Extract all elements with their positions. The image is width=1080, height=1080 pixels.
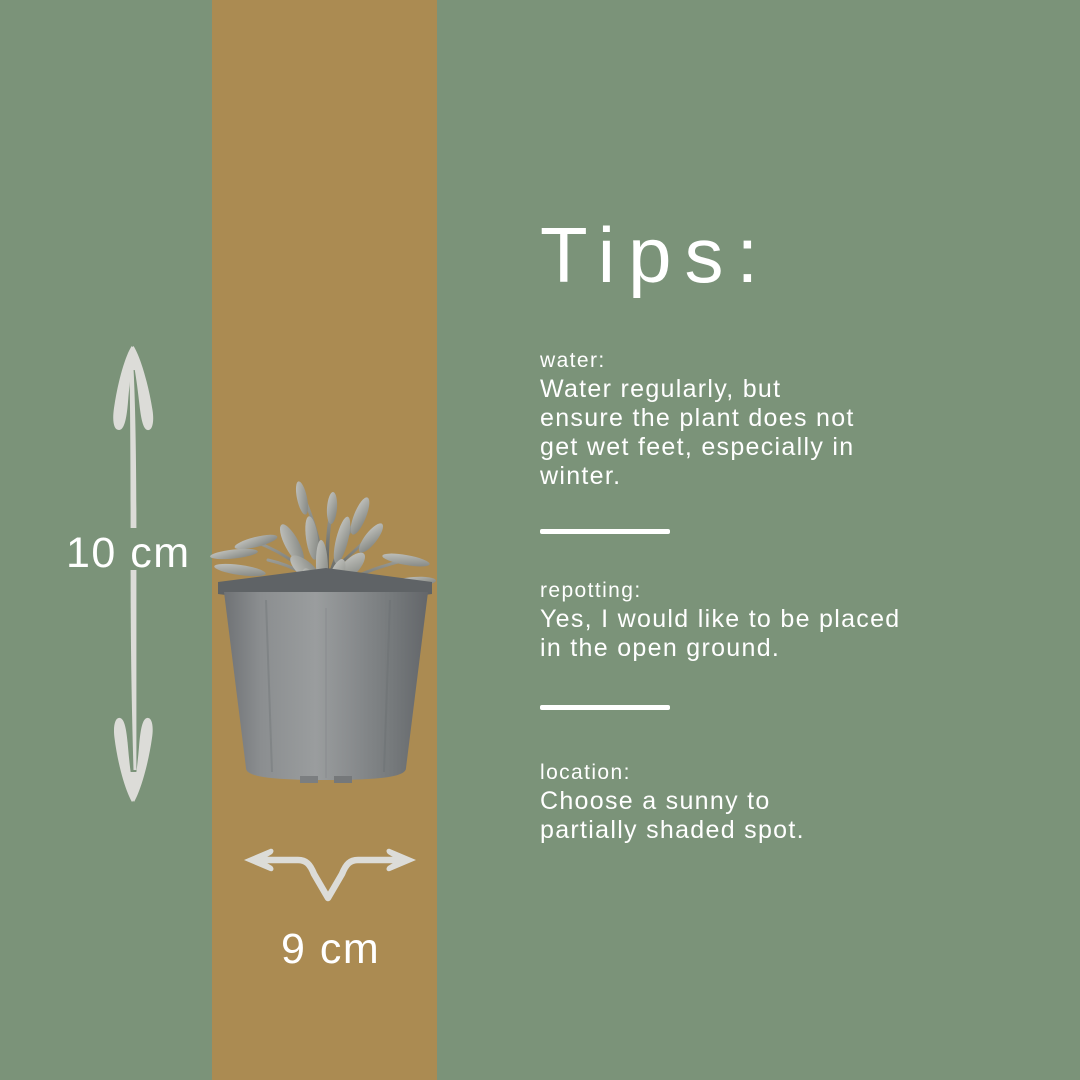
width-dimension-label: 9 cm [281, 922, 380, 976]
spacer-after-repotting [540, 663, 1020, 705]
potted-plant-photo [200, 420, 450, 790]
tip-body-repotting: Yes, I would like to be placed in the op… [540, 605, 1020, 663]
tip-label-repotting: repotting: [540, 576, 1020, 605]
height-dimension-label: 10 cm [66, 526, 191, 580]
spacer-before-location [540, 710, 1020, 758]
spacer-after-water [540, 491, 1020, 529]
double-arrow-horizontal-icon [240, 840, 420, 908]
tips-heading: Tips: [540, 212, 1020, 298]
tips-panel: Tips: water: Water regularly, but ensure… [540, 212, 1020, 845]
infographic-canvas: 10 cm 9 cm Tips: water: Water regularly,… [0, 0, 1080, 1080]
tip-block-repotting: repotting: Yes, I would like to be place… [540, 576, 1020, 663]
tip-label-location: location: [540, 758, 1020, 787]
tip-block-water: water: Water regularly, but ensure the p… [540, 346, 1020, 491]
spacer-before-repotting [540, 534, 1020, 576]
tip-label-water: water: [540, 346, 1020, 375]
tip-body-water: Water regularly, but ensure the plant do… [540, 375, 1020, 491]
tip-body-location: Choose a sunny to partially shaded spot. [540, 787, 1020, 845]
tip-block-location: location: Choose a sunny to partially sh… [540, 758, 1020, 845]
pot-body [218, 568, 432, 783]
